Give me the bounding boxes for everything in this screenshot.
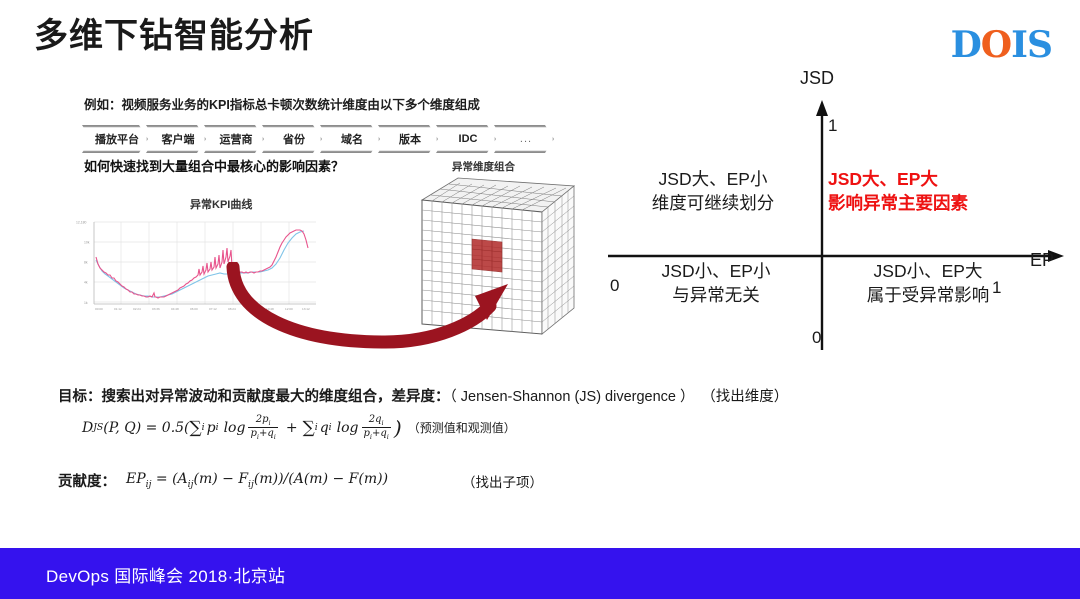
svg-text:07:12: 07:12 — [209, 307, 217, 311]
quadrant-bottom-left: JSD小、EP小 与异常无关 — [626, 260, 806, 307]
contribution-formula: 贡献度： EPij = (Aij(m) − Fij(m))/(A(m) − F(… — [58, 470, 543, 491]
formula1-frac1-den: pi+qi — [248, 427, 277, 441]
quadrant-top-right: JSD大、EP大 影响异常主要因素 — [828, 168, 1048, 215]
formula1-log1: log — [224, 420, 246, 436]
quadrant-y-axis-label: JSD — [800, 68, 834, 89]
svg-text:1k: 1k — [84, 301, 88, 305]
formula1-frac2-den: pi+qi — [362, 427, 391, 441]
dimension-cube — [418, 174, 578, 344]
quadrant-bottom-right-line1: JSD小、EP大 — [822, 260, 1034, 284]
formula1-close-paren: ) — [394, 416, 402, 440]
formula1-note: （预测值和观测值） — [408, 419, 516, 436]
quadrant-top-left-line2: 维度可继续划分 — [618, 192, 808, 216]
kpi-chart-title: 异常KPI曲线 — [190, 196, 252, 212]
quadrant-top-left: JSD大、EP小 维度可继续划分 — [618, 168, 808, 215]
formula1-sum2-sub: i — [315, 422, 318, 433]
svg-text:8k: 8k — [84, 261, 88, 265]
goal-text-tail: （找出维度） — [709, 389, 789, 405]
cube-label: 异常维度组合 — [452, 159, 515, 174]
quadrant-bottom-left-line2: 与异常无关 — [626, 284, 806, 308]
js-divergence-formula: DJS(P, Q) = 0.5( ∑i pi log 2pi pi+qi + ∑… — [82, 414, 516, 442]
svg-text:00:00: 00:00 — [95, 307, 103, 311]
svg-text:4k: 4k — [84, 281, 88, 285]
formula1-fraction-2: 2qi pi+qi — [362, 414, 391, 442]
svg-text:06:00: 06:00 — [190, 307, 198, 311]
svg-text:02:24: 02:24 — [133, 307, 141, 311]
quadrant-top-left-line1: JSD大、EP小 — [618, 168, 808, 192]
quadrant-bottom-right-line2: 属于受异常影响 — [822, 284, 1034, 308]
formula1-term1-sub: i — [216, 422, 219, 433]
kpi-line-chart: 12,180 10k 8k 4k 1k 00:0001:12 02:2403:3… — [66, 212, 321, 322]
svg-text:01:12: 01:12 — [114, 307, 122, 311]
chevron-dimension-more[interactable]: ... — [494, 125, 554, 153]
chevron-dimension-6[interactable]: IDC — [436, 125, 496, 153]
formula1-frac2-num: 2qi — [367, 414, 386, 427]
formula2-expression: EPij = (Aij(m) − Fij(m))/(A(m) − F(m)) — [126, 471, 388, 490]
page-title: 多维下钻智能分析 — [34, 18, 314, 55]
formula1-log2: log — [337, 420, 359, 436]
formula1-sum2: ∑ — [303, 418, 315, 438]
formula1-fraction-1: 2pi pi+qi — [248, 414, 277, 442]
question-text: 如何快速找到大量组合中最核心的影响因素？ — [84, 156, 344, 175]
chevron-dimension-4[interactable]: 域名 — [320, 125, 380, 153]
chevron-dimension-5[interactable]: 版本 — [378, 125, 438, 153]
chevron-dimension-1[interactable]: 客户端 — [146, 125, 206, 153]
svg-text:12:00: 12:00 — [285, 307, 293, 311]
cube-svg — [418, 174, 578, 344]
formula1-term2-sub: i — [329, 422, 332, 433]
quadrant-tick-bottom: 0 — [812, 328, 821, 348]
formula2-note: （找出子项） — [462, 471, 543, 491]
svg-text:09:36: 09:36 — [247, 307, 255, 311]
svg-text:13:12: 13:12 — [302, 307, 310, 311]
svg-text:10k: 10k — [84, 241, 90, 245]
example-description: 例如：视频服务业务的KPI指标总卡顿次数统计维度由以下多个维度组成 — [84, 94, 480, 113]
quadrant-bottom-right: JSD小、EP大 属于受异常影响 — [822, 260, 1034, 307]
cube-anomaly-cell — [472, 239, 502, 272]
footer-text: DevOps 国际峰会 2018·北京站 — [46, 562, 285, 587]
kpi-chart-svg: 12,180 10k 8k 4k 1k 00:0001:12 02:2403:3… — [66, 212, 321, 322]
goal-text-cn: 目标：搜索出对异常波动和贡献度最大的维度组合，差异度： — [58, 389, 450, 405]
quadrant-top-right-line2: 影响异常主要因素 — [828, 192, 1048, 216]
formula1-term1: p — [207, 420, 216, 436]
formula2-label: 贡献度： — [58, 470, 116, 491]
quadrant-tick-top: 1 — [828, 116, 837, 136]
chevron-dimension-2[interactable]: 运营商 — [204, 125, 264, 153]
svg-text:04:48: 04:48 — [171, 307, 179, 311]
slide-root: 多维下钻智能分析 DOIS 例如：视频服务业务的KPI指标总卡顿次数统计维度由以… — [0, 0, 1080, 599]
goal-text-en: （ Jensen-Shannon (JS) divergence ） — [450, 389, 695, 405]
quadrant-top-right-line1: JSD大、EP大 — [828, 168, 1048, 192]
formula1-lhs: D — [82, 420, 93, 436]
goal-statement: 目标：搜索出对异常波动和贡献度最大的维度组合，差异度：（ Jensen-Shan… — [58, 385, 788, 406]
svg-text:03:36: 03:36 — [152, 307, 160, 311]
jsd-ep-quadrant-chart: JSD EP 1 0 1 0 JSD大、EP小 维度可继续划分 JSD大、EP大… — [600, 60, 1070, 360]
chevron-dimension-3[interactable]: 省份 — [262, 125, 322, 153]
formula1-frac1-num: 2pi — [254, 414, 273, 427]
formula1-term2: q — [320, 420, 329, 436]
dimension-chevron-row: 播放平台 客户端 运营商 省份 域名 版本 IDC ... — [82, 125, 552, 153]
footer-bar: DevOps 国际峰会 2018·北京站 — [0, 548, 1080, 599]
formula1-sum1: ∑ — [190, 418, 202, 438]
chevron-dimension-0[interactable]: 播放平台 — [82, 125, 148, 153]
svg-text:12,180: 12,180 — [76, 221, 86, 225]
quadrant-tick-left: 0 — [610, 276, 619, 296]
formula1-lhs-sub: JS — [93, 422, 103, 433]
formula1-plus: + — [286, 420, 298, 436]
formula1-args: (P, Q) = 0.5( — [103, 420, 189, 436]
quadrant-bottom-left-line1: JSD小、EP小 — [626, 260, 806, 284]
svg-text:08:24: 08:24 — [228, 307, 236, 311]
formula1-sum1-sub: i — [202, 422, 205, 433]
svg-text:10:48: 10:48 — [266, 307, 274, 311]
